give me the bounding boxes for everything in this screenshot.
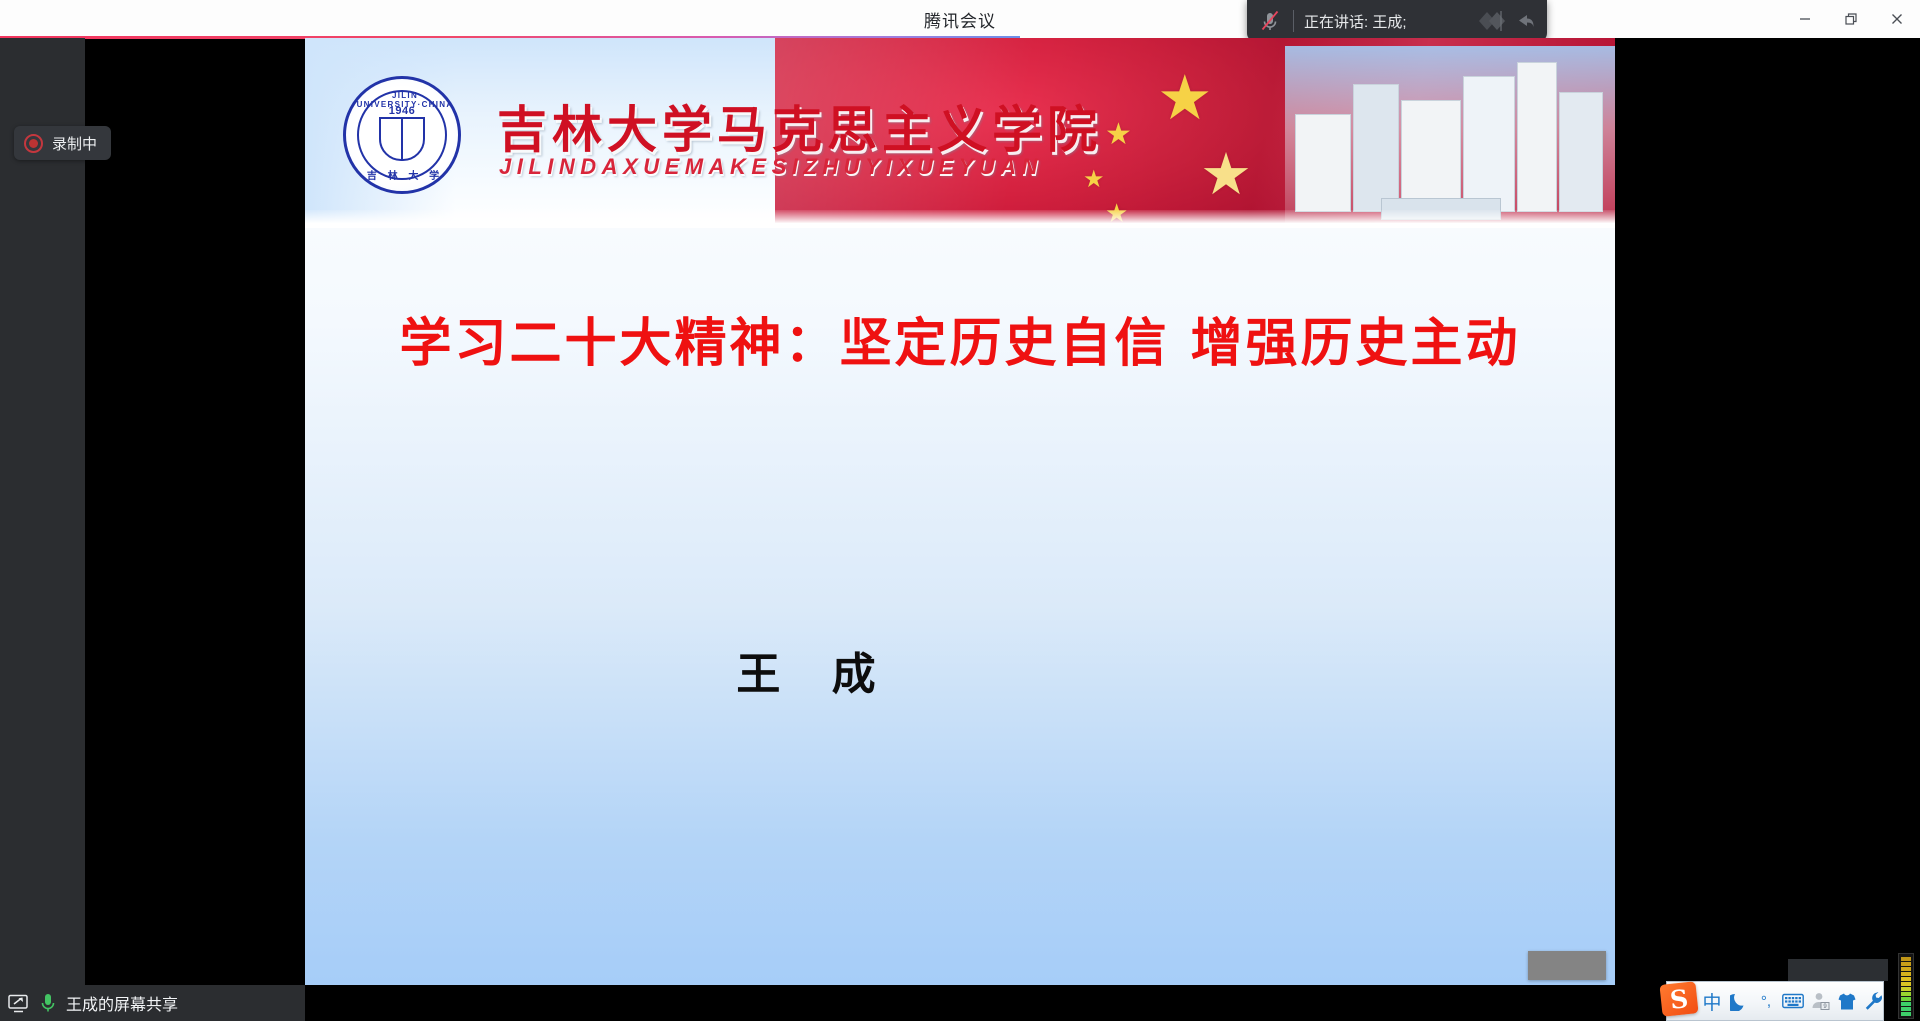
return-arrow-icon bbox=[1511, 8, 1537, 34]
microphone-muted-icon bbox=[1257, 8, 1283, 34]
pill-right-icons[interactable] bbox=[1476, 8, 1537, 34]
window-title: 腾讯会议 bbox=[924, 7, 996, 32]
microphone-on-icon bbox=[40, 992, 56, 1014]
banner-bottom-fade bbox=[305, 210, 1615, 228]
punctuation-icon[interactable]: °, bbox=[1754, 986, 1778, 1016]
recording-label: 录制中 bbox=[52, 133, 97, 154]
skin-icon[interactable] bbox=[1835, 986, 1859, 1016]
window-controls bbox=[1782, 0, 1920, 38]
speaking-indicator[interactable]: 正在讲话: 王成; bbox=[1247, 0, 1547, 42]
flag-star-4: ★ bbox=[1200, 146, 1252, 204]
recording-badge[interactable]: 录制中 bbox=[14, 126, 111, 160]
slide-toolbar-box[interactable] bbox=[1528, 951, 1606, 980]
chevrons-icon bbox=[1476, 8, 1510, 34]
close-button[interactable] bbox=[1874, 0, 1920, 38]
campus-buildings-image bbox=[1285, 46, 1615, 228]
screen-share-label: 王成的屏幕共享 bbox=[66, 991, 178, 1015]
screen-share-status[interactable]: 王成的屏幕共享 bbox=[0, 985, 305, 1021]
user-icon[interactable]: 9 bbox=[1808, 986, 1832, 1016]
seal-year: 1946 bbox=[389, 105, 415, 117]
flag-star-big: ★ bbox=[1157, 68, 1213, 130]
input-mode-chinese[interactable]: 中 bbox=[1700, 986, 1724, 1016]
seal-arc-bottom: 吉 林 大 学 bbox=[346, 167, 464, 182]
institution-name-cn: 吉林大学马克思主义学院 bbox=[497, 90, 1102, 162]
sogou-ime-bar[interactable]: S 中 °, bbox=[1666, 981, 1884, 1021]
slide-author: 王 成 bbox=[605, 638, 1025, 702]
institution-name-pinyin: JILINDAXUEMAKESIZHUYIXUEYUAN bbox=[499, 154, 1043, 180]
minimize-button[interactable] bbox=[1782, 0, 1828, 38]
slide-banner: ★ ★ ★ ★ ★ JILIN UNIVERSITY·CHINA 1946 吉 … bbox=[305, 38, 1615, 228]
pill-divider bbox=[1293, 10, 1294, 32]
sogou-logo-icon[interactable]: S bbox=[1659, 981, 1698, 1017]
jlu-seal-logo: JILIN UNIVERSITY·CHINA 1946 吉 林 大 学 bbox=[343, 76, 461, 194]
soft-keyboard-icon[interactable] bbox=[1781, 986, 1805, 1016]
flag-star-1: ★ bbox=[1105, 120, 1132, 150]
tools-icon[interactable] bbox=[1862, 986, 1886, 1016]
shared-screen-slide[interactable]: ★ ★ ★ ★ ★ JILIN UNIVERSITY·CHINA 1946 吉 … bbox=[305, 38, 1615, 985]
speaking-label: 正在讲话: 王成; bbox=[1304, 11, 1466, 32]
bottom-bar: 王成的屏幕共享 S 中 °, bbox=[0, 985, 1920, 1021]
slide-title: 学习二十大精神：坚定历史自信 增强历史主动 bbox=[385, 310, 1535, 379]
meeting-window: 腾讯会议 bbox=[0, 0, 1920, 1021]
screen-share-icon bbox=[8, 994, 30, 1013]
audio-level-meter bbox=[1898, 953, 1914, 1019]
title-bar: 腾讯会议 bbox=[0, 0, 1920, 38]
flag-star-2: ★ bbox=[1083, 168, 1105, 192]
left-panel: 录制中 bbox=[0, 38, 85, 985]
record-dot-icon bbox=[24, 134, 43, 153]
restore-button[interactable] bbox=[1828, 0, 1874, 38]
taskbar-dark-patch bbox=[1788, 959, 1888, 981]
moon-icon[interactable] bbox=[1727, 986, 1751, 1016]
